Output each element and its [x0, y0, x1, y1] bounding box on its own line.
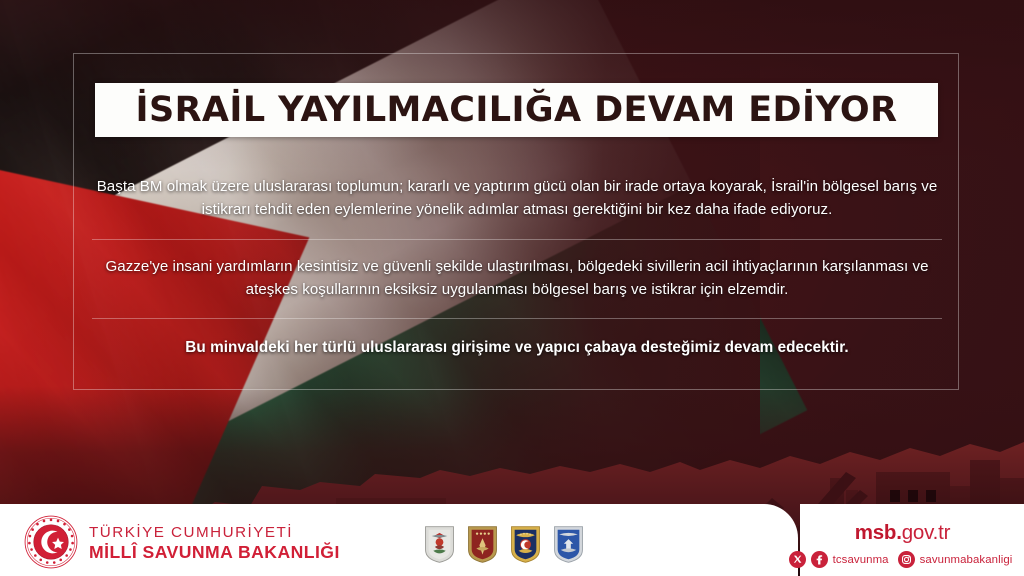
ministry-text: TÜRKİYE CUMHURİYETİ MİLLÎ SAVUNMA BAKANL…: [89, 523, 340, 562]
website-url[interactable]: msb.gov.tr: [795, 523, 1010, 544]
instagram-handle[interactable]: savunmabakanligi: [920, 554, 1013, 566]
instagram-icon[interactable]: [898, 551, 915, 568]
ministry-line-2: MİLLÎ SAVUNMA BAKANLIĞI: [89, 544, 340, 562]
paragraph-divider-2: [92, 318, 942, 319]
website-url-rest: gov.tr: [902, 521, 951, 544]
statement-paragraph-1: Başta BM olmak üzere uluslararası toplum…: [92, 176, 942, 224]
ministry-brand[interactable]: TÜRKİYE CUMHURİYETİ MİLLÎ SAVUNMA BAKANL…: [24, 515, 340, 569]
page-title: İSRAİL YAYILMACILIĞA DEVAM EDİYOR: [136, 93, 898, 128]
hava-kuvvetleri-crest-icon: [553, 525, 584, 564]
social-links: tcsavunma savunmabakanligi: [795, 551, 1010, 568]
web-and-social-block: msb.gov.tr tcsavunma savunmabakanligi: [795, 523, 1010, 569]
facebook-handle[interactable]: tcsavunma: [833, 554, 889, 566]
statement-body: Başta BM olmak üzere uluslararası toplum…: [92, 176, 942, 359]
poster-canvas: İSRAİL YAYILMACILIĞA DEVAM EDİYOR Başta …: [0, 0, 1024, 576]
armed-forces-crests: [424, 525, 584, 564]
website-url-bold: msb.: [855, 521, 902, 544]
kara-kuvvetleri-crest-icon: [467, 525, 498, 564]
deniz-kuvvetleri-crest-icon: [510, 525, 541, 564]
facebook-icon[interactable]: [811, 551, 828, 568]
x-twitter-icon[interactable]: [789, 551, 806, 568]
ministry-line-1: TÜRKİYE CUMHURİYETİ: [89, 525, 340, 540]
statement-paragraph-2: Gazze'ye insani yardımların kesintisiz v…: [92, 256, 942, 302]
genelkurmay-baskanligi-crest-icon: [424, 525, 455, 564]
headline-banner: İSRAİL YAYILMACILIĞA DEVAM EDİYOR: [95, 83, 938, 137]
statement-paragraph-3: Bu minvaldeki her türlü uluslararası gir…: [92, 336, 942, 359]
msb-emblem-icon: [24, 515, 78, 569]
paragraph-divider-1: [92, 239, 942, 240]
